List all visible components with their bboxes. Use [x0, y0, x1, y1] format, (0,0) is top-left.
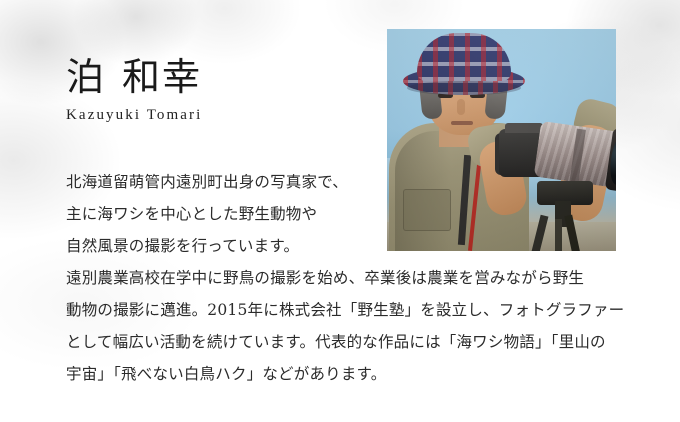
photographer-profile-card: 泊和幸 Kazuyuki Tomari 北海道留萌管内遠別町出身の写真家で、 主… — [0, 0, 680, 422]
name-block: 泊和幸 Kazuyuki Tomari — [66, 58, 202, 124]
name-family-ja: 泊 — [66, 55, 106, 99]
page-title: 泊和幸 — [66, 58, 202, 98]
bio-line: として幅広い活動を続けています。代表的な作品には「海ワシ物語」「里山の — [66, 326, 626, 358]
bio-line: 遠別農業高校在学中に野鳥の撮影を始め、卒業後は農業を営みながら野生 — [66, 262, 626, 294]
name-given-ja: 和幸 — [122, 55, 202, 99]
name-romaji: Kazuyuki Tomari — [66, 107, 202, 124]
photo-vignette — [387, 29, 616, 251]
photographer-portrait-photo — [387, 29, 616, 251]
bio-line: 宇宙」「飛べない白鳥ハク」などがあります。 — [66, 358, 626, 390]
bio-line: 動物の撮影に邁進。2015年に株式会社「野生塾」を設立し、フォトグラファー — [66, 294, 626, 326]
